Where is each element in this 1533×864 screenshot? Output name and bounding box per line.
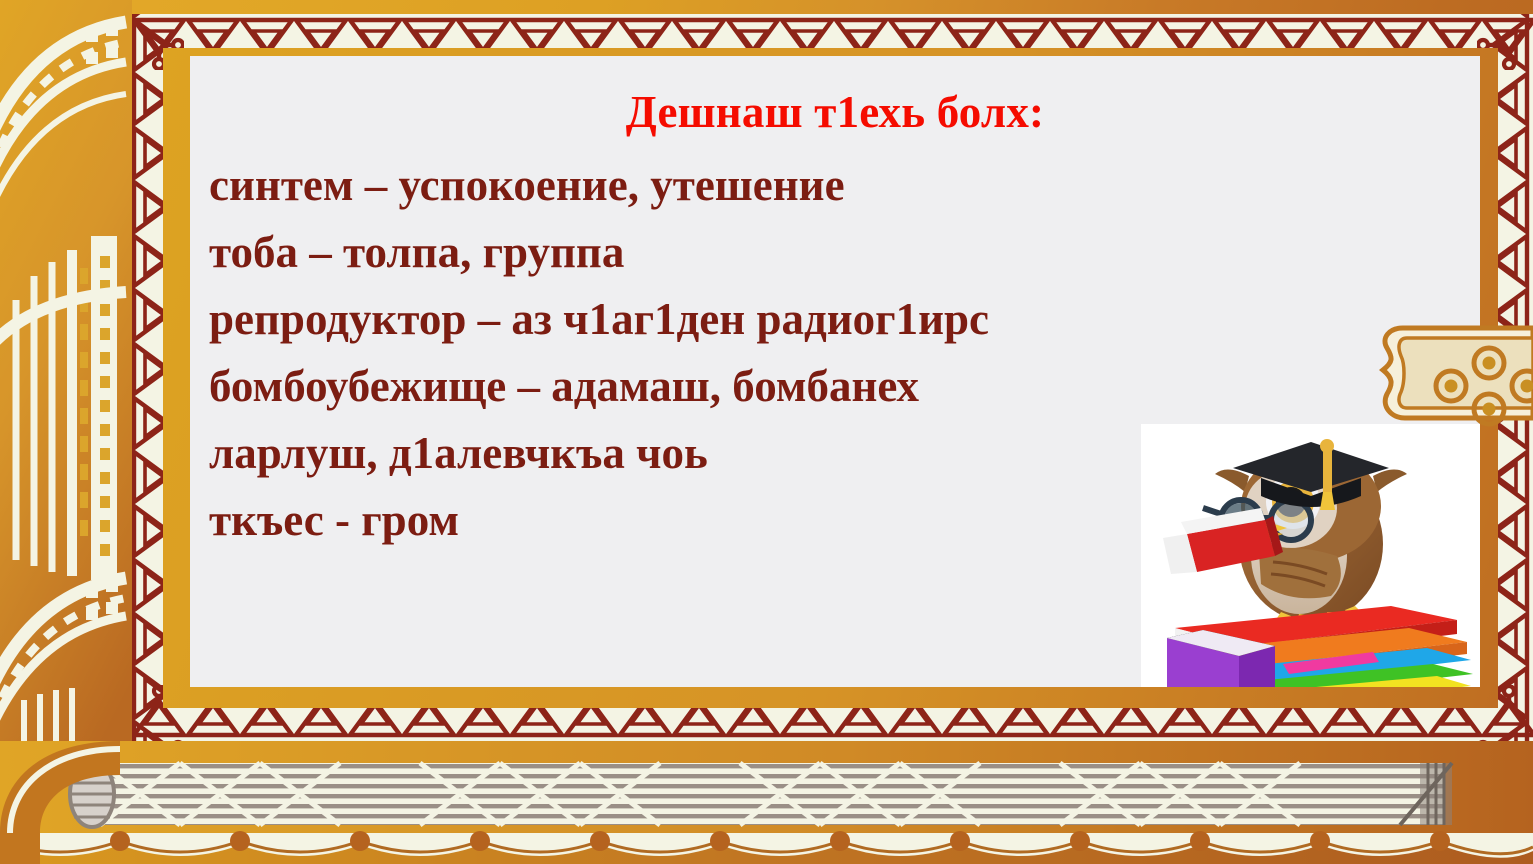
list-item: тоба – толпа, группа [209,219,1329,286]
list-item: репродуктор – аз ч1аг1ден радиог1ирс [209,286,1329,353]
list-item: синтем – успокоение, утешение [209,152,1329,219]
vocabulary-list: синтем – успокоение, утешение тоба – тол… [209,152,1329,554]
page-title: Дешнаш т1ехь болх: [190,86,1480,138]
list-item: ларлуш, д1алевчкъа чоь [209,420,1329,487]
book-spine-arches-icon [0,0,132,864]
ornamental-plaque-icon [1367,318,1533,430]
list-item: бомбоубежище – адамаш, бомбанех [209,353,1329,420]
slide: Дешнаш т1ехь болх: синтем – успокоение, … [0,0,1533,864]
list-item: ткъес - гром [209,487,1329,554]
scroll-rod-icon [0,741,1533,864]
